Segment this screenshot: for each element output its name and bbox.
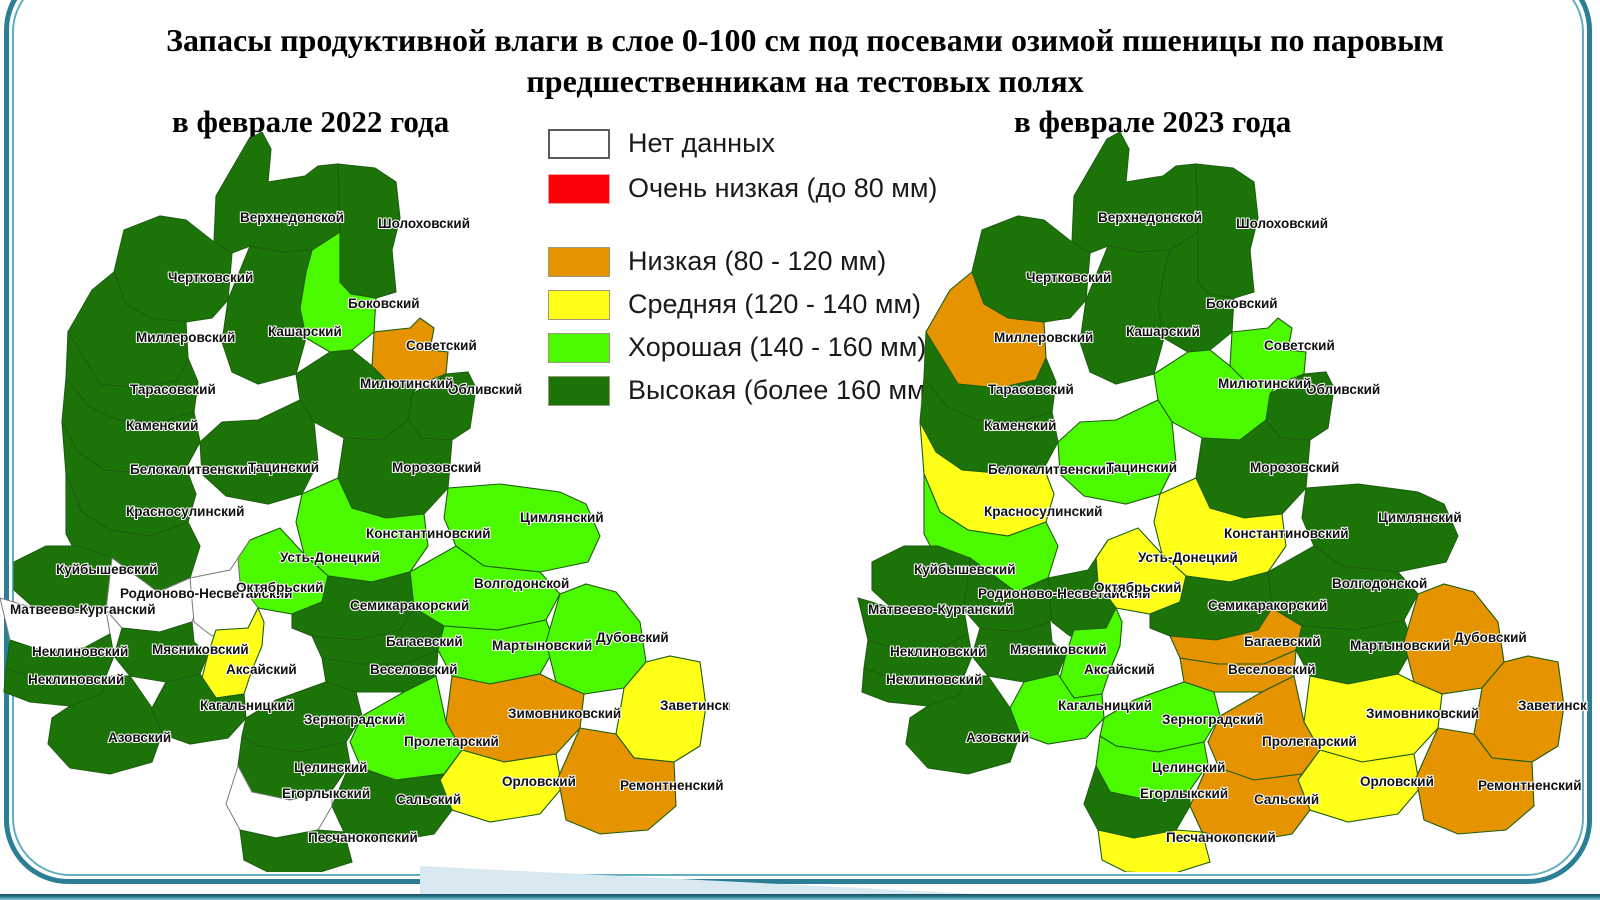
map-district[interactable] [1058, 400, 1176, 504]
district-label: Зимовниковский [1366, 706, 1479, 721]
map-district[interactable] [338, 164, 400, 298]
district-label: Тарасовский [988, 382, 1074, 397]
district-label: Морозовский [392, 460, 481, 475]
district-label: Егорлыкский [282, 786, 370, 801]
map-district[interactable] [1072, 132, 1198, 253]
district-label: Дубовский [1454, 630, 1527, 645]
district-label: Мартыновский [492, 638, 592, 653]
district-label: Усть-Донецкий [1138, 550, 1238, 565]
district-label: Усть-Донецкий [280, 550, 380, 565]
district-label: Боковский [348, 296, 420, 311]
district-label: Сальский [1254, 792, 1319, 807]
district-label: Ремонтненский [620, 778, 724, 793]
district-label: Тарасовский [130, 382, 216, 397]
district-label: Красносулинский [984, 504, 1102, 519]
district-label: Кашарский [1126, 324, 1200, 339]
district-label: Егорлыкский [1140, 786, 1228, 801]
district-label: Чертковский [1026, 270, 1111, 285]
district-label: Семикаракорский [1208, 598, 1327, 613]
district-label: Боковский [1206, 296, 1278, 311]
district-label: Аксайский [1084, 662, 1155, 677]
district-label: Тацинский [1106, 460, 1177, 475]
district-label: Шолоховский [1236, 216, 1328, 231]
district-label: Морозовский [1250, 460, 1339, 475]
district-label: Чертковский [168, 270, 253, 285]
district-label: Цимлянский [1378, 510, 1462, 525]
district-label: Неклиновский [28, 672, 124, 687]
district-label: Кашарский [268, 324, 342, 339]
district-label: Неклиновский [886, 672, 982, 687]
district-label: Зерноградский [304, 712, 405, 727]
district-label: Пролетарский [404, 734, 499, 749]
district-label: Дубовский [596, 630, 669, 645]
district-label: Белокалитвенский [130, 462, 256, 477]
district-label: Пролетарский [1262, 734, 1357, 749]
district-label: Багаевский [1244, 634, 1321, 649]
district-label: Багаевский [386, 634, 463, 649]
district-label: Мясниковский [1010, 642, 1107, 657]
map-district[interactable] [214, 132, 340, 253]
map-district[interactable] [1196, 164, 1258, 298]
district-label: Целинский [1152, 760, 1225, 775]
map-svg-2023: ВерхнедонскойШолоховскийЧертковскийБоков… [828, 132, 1588, 872]
district-label: Волгодонской [1332, 576, 1427, 591]
district-label: Цимлянский [520, 510, 604, 525]
district-label: Тацинский [248, 460, 319, 475]
district-label: Сальский [396, 792, 461, 807]
district-label: Милютинский [360, 376, 453, 391]
district-label: Красносулинский [126, 504, 244, 519]
district-label: Орловский [502, 774, 576, 789]
district-label: Константиновский [366, 526, 491, 541]
district-label: Зимовниковский [508, 706, 621, 721]
district-label: Обливский [448, 382, 522, 397]
district-label: Каменский [126, 418, 198, 433]
district-label: Песчанокопский [1166, 830, 1276, 845]
district-label: Милютинский [1218, 376, 1311, 391]
district-label: Неклиновский [32, 644, 128, 659]
district-label: Зерноградский [1162, 712, 1263, 727]
district-label: Куйбышевский [914, 562, 1016, 577]
map-district[interactable] [222, 246, 312, 384]
district-label: Песчанокопский [308, 830, 418, 845]
district-label: Октябрьский [236, 580, 324, 595]
page-title: Запасы продуктивной влаги в слое 0-100 с… [70, 20, 1540, 102]
district-label: Советский [406, 338, 477, 353]
district-label: Октябрьский [1094, 580, 1182, 595]
district-label: Азовский [966, 730, 1029, 745]
bottom-accent-bar [0, 894, 1600, 900]
district-label: Обливский [1306, 382, 1380, 397]
district-label: Верхнедонской [1098, 210, 1202, 225]
district-label: Азовский [108, 730, 171, 745]
district-label: Каменский [984, 418, 1056, 433]
district-label: Матвеево-Курганский [868, 602, 1014, 617]
district-label: Советский [1264, 338, 1335, 353]
district-label: Заветинский [660, 698, 730, 713]
choropleth-map-2022: ВерхнедонскойШолоховскийЧертковскийБоков… [0, 132, 730, 872]
district-label: Миллеровский [994, 330, 1093, 345]
district-label: Аксайский [226, 662, 297, 677]
district-label: Белокалитвенский [988, 462, 1114, 477]
district-label: Константиновский [1224, 526, 1349, 541]
district-label: Кагальницкий [1058, 698, 1152, 713]
district-label: Веселовский [370, 662, 458, 677]
choropleth-map-2023: ВерхнедонскойШолоховскийЧертковскийБоков… [828, 132, 1588, 872]
district-label: Матвеево-Курганский [10, 602, 156, 617]
district-label: Заветинский [1518, 698, 1588, 713]
district-label: Верхнедонской [240, 210, 344, 225]
district-label: Кагальницкий [200, 698, 294, 713]
district-label: Куйбышевский [56, 562, 158, 577]
district-label: Мясниковский [152, 642, 249, 657]
district-label: Шолоховский [378, 216, 470, 231]
district-label: Миллеровский [136, 330, 235, 345]
map-district[interactable] [200, 400, 318, 504]
district-label: Мартыновский [1350, 638, 1450, 653]
district-label: Целинский [294, 760, 367, 775]
map-svg-2022: ВерхнедонскойШолоховскийЧертковскийБоков… [0, 132, 730, 872]
district-label: Орловский [1360, 774, 1434, 789]
map-district[interactable] [1080, 246, 1170, 384]
district-label: Неклиновский [890, 644, 986, 659]
district-label: Веселовский [1228, 662, 1316, 677]
district-label: Ремонтненский [1478, 778, 1582, 793]
district-label: Волгодонской [474, 576, 569, 591]
district-label: Семикаракорский [350, 598, 469, 613]
